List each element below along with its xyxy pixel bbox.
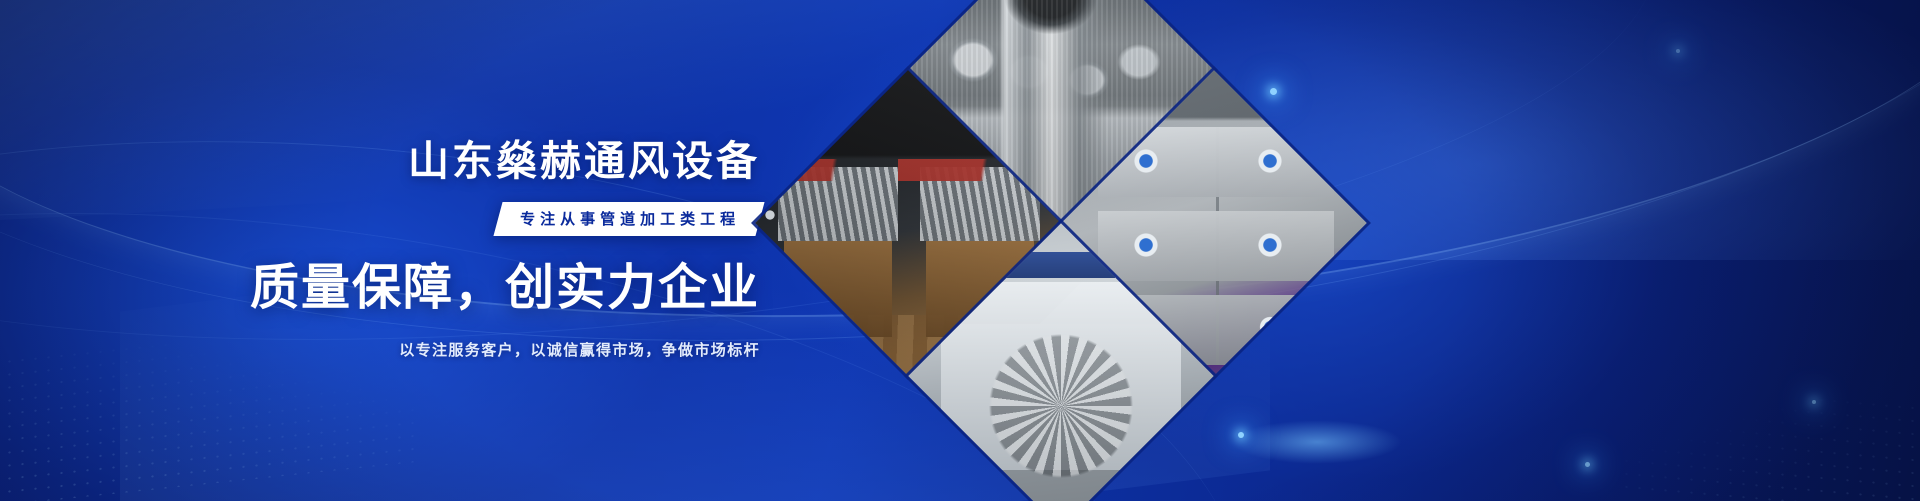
light-beam xyxy=(1232,420,1402,464)
glow-dot-icon xyxy=(1812,400,1816,404)
hero-banner: 山东燊赫通风设备 专注从事管道加工类工程 质量保障，创实力企业 以专注服务客户，… xyxy=(0,0,1920,501)
service-badge: 专注从事管道加工类工程 xyxy=(493,202,764,236)
photo-collage xyxy=(800,38,1230,368)
service-badge-label: 专注从事管道加工类工程 xyxy=(520,208,740,229)
dot-grid-bottom-right xyxy=(1620,376,1920,501)
company-title: 山东燊赫通风设备 xyxy=(408,141,760,182)
glow-dot-icon xyxy=(1238,432,1244,438)
banner-tagline: 以专注服务客户，以诚信赢得市场，争做市场标杆 xyxy=(399,339,760,360)
glow-dot-icon xyxy=(1676,49,1680,53)
glow-dot-icon xyxy=(1585,462,1590,467)
glow-dot-icon xyxy=(1270,88,1277,95)
banner-headline: 质量保障，创实力企业 xyxy=(250,264,760,313)
banner-copy: 山东燊赫通风设备 专注从事管道加工类工程 质量保障，创实力企业 以专注服务客户，… xyxy=(0,0,790,501)
